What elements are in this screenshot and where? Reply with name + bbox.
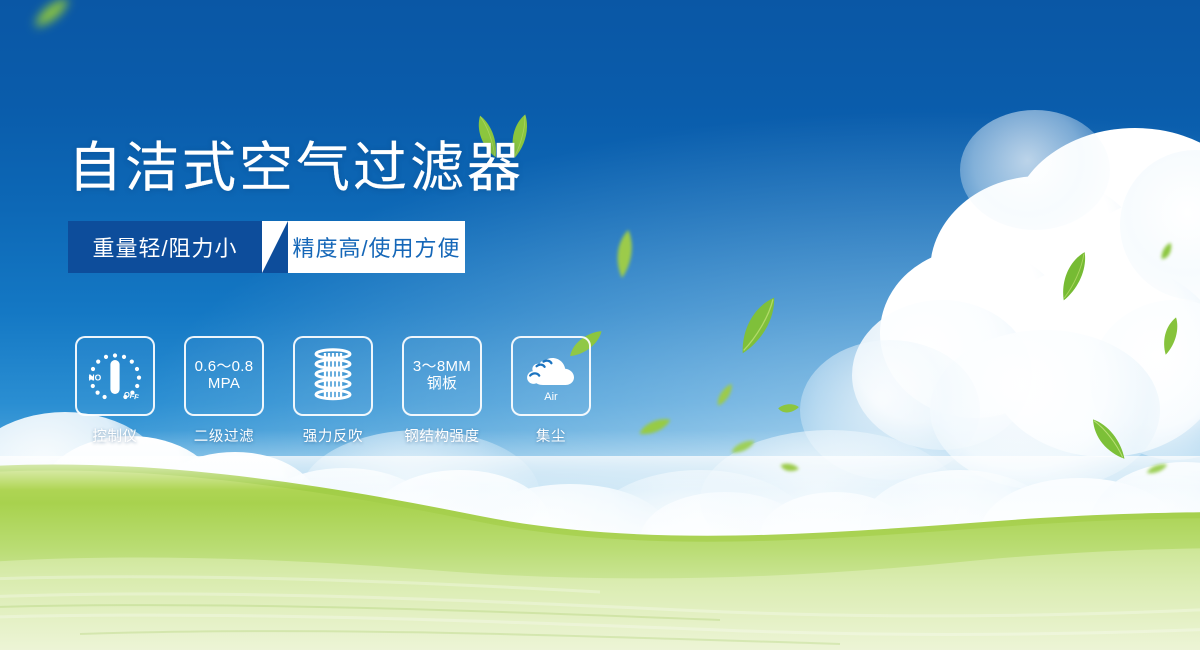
steel-material: 钢板 [413,376,471,393]
dial-gauge-icon: NO OFF [80,341,150,411]
feature-icon-box: 0.6〜0.8 MPA [184,336,264,416]
tagline-right: 精度高/使用方便 [262,221,465,273]
leaf-icon [707,377,744,414]
pressure-value-icon: 0.6〜0.8 MPA [195,359,254,393]
feature-icon-box [293,336,373,416]
feature-item[interactable]: NO OFF 控制仪 [75,336,155,446]
headline-block: 自洁式空气过滤器 重量轻/阻力小 精度高/使用方便 [68,140,524,273]
filter-cartridge-icon [301,344,365,408]
grass-field [0,412,1200,650]
page-title: 自洁式空气过滤器 [68,140,524,197]
steel-thickness: 3〜8MM [413,358,471,375]
leaf-icon [608,226,641,281]
svg-text:NO: NO [89,373,102,383]
feature-label: 钢结构强度 [384,425,500,446]
tagline-left-text: 重量轻/阻力小 [92,231,237,263]
feature-label: 控制仪 [75,425,155,446]
feature-icon-box: Air [511,336,591,416]
air-cloud-icon: Air [517,345,585,407]
feature-label: 强力反吹 [293,425,373,446]
feature-item[interactable]: 3〜8MM 钢板 钢结构强度 [402,336,482,446]
pressure-unit: MPA [195,376,254,393]
feature-icon-box: NO OFF [75,336,155,416]
pressure-range: 0.6〜0.8 [195,358,254,375]
feature-icon-box: 3〜8MM 钢板 [402,336,482,416]
leaf-icon [725,288,789,362]
feature-item[interactable]: 强力反吹 [293,336,373,446]
tagline-left: 重量轻/阻力小 [68,221,262,273]
feature-item[interactable]: 0.6〜0.8 MPA 二级过滤 [184,336,264,446]
feature-item[interactable]: Air 集尘 [511,336,591,446]
product-banner: 自洁式空气过滤器 重量轻/阻力小 精度高/使用方便 [0,0,1200,650]
leaf-icon [27,0,76,32]
svg-text:Air: Air [544,391,558,403]
feature-list: NO OFF 控制仪 0.6〜0.8 MPA 二级过滤 [75,336,591,446]
leaf-icon [1145,461,1168,477]
tagline-right-text: 精度高/使用方便 [292,231,460,263]
feature-label: 集尘 [511,425,591,446]
svg-text:OFF: OFF [123,390,140,402]
tagline-bar: 重量轻/阻力小 精度高/使用方便 [68,221,465,273]
feature-label: 二级过滤 [184,425,264,446]
steel-plate-icon: 3〜8MM 钢板 [413,359,471,393]
